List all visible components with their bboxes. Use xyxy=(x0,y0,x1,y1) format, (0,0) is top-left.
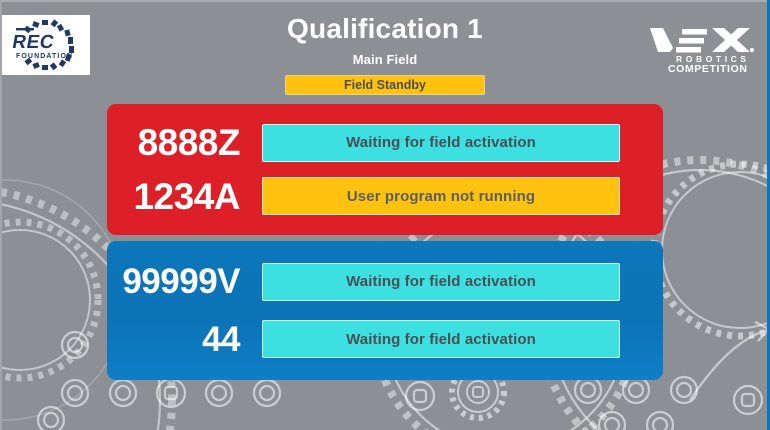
table-row: 1234A User program not running xyxy=(107,173,663,221)
team-status: Waiting for field activation xyxy=(262,320,620,358)
team-status: Waiting for field activation xyxy=(262,263,620,301)
status-badge: Field Standby xyxy=(285,75,485,95)
team-number: 8888Z xyxy=(107,124,262,161)
alliance-panel-blue: 99999V Waiting for field activation 44 W… xyxy=(107,241,663,380)
team-number: 1234A xyxy=(107,178,262,215)
team-status: Waiting for field activation xyxy=(262,124,620,162)
vex-robotics-competition-logo: ROBOTICS COMPETITION xyxy=(646,22,756,74)
team-number: 44 xyxy=(107,322,262,357)
window-top-edge xyxy=(0,0,770,2)
svg-text:FOUNDATION: FOUNDATION xyxy=(16,53,73,60)
table-row: 99999V Waiting for field activation xyxy=(107,258,663,306)
window-left-edge xyxy=(0,0,2,430)
rec-foundation-logo: REC FOUNDATION xyxy=(2,15,90,75)
team-status: User program not running xyxy=(262,177,620,215)
page-title: Qualification 1 xyxy=(287,14,483,45)
field-display-screen: REC FOUNDATION ROBOTICS COMPETI xyxy=(0,0,770,430)
table-row: 44 Waiting for field activation xyxy=(107,316,663,364)
alliance-panel-red: 8888Z Waiting for field activation 1234A… xyxy=(107,104,663,235)
table-row: 8888Z Waiting for field activation xyxy=(107,119,663,167)
field-name-label: Main Field xyxy=(353,52,418,67)
svg-text:COMPETITION: COMPETITION xyxy=(668,63,748,74)
svg-text:REC: REC xyxy=(11,32,56,53)
team-number: 99999V xyxy=(107,264,262,299)
